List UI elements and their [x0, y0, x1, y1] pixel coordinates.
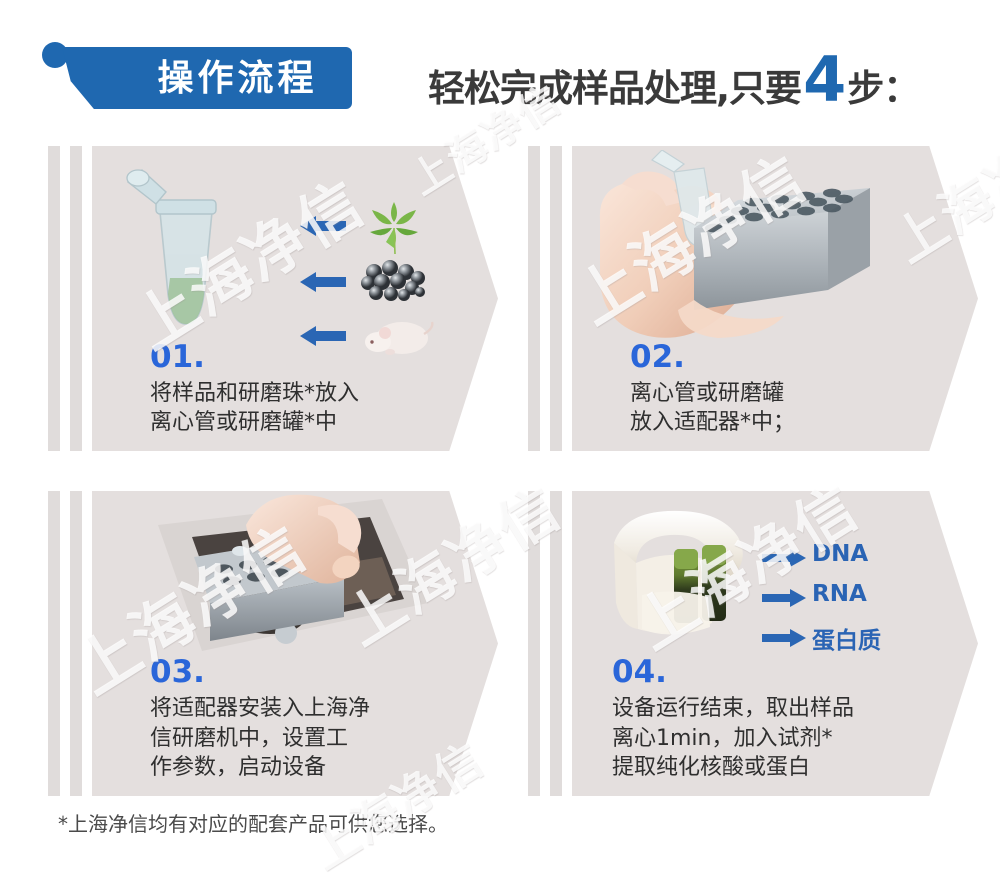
- step-caption-02: 02. 离心管或研磨罐 放入适配器*中；: [630, 342, 960, 438]
- headline-text-before: 轻松完成样品处理,只要: [428, 58, 801, 112]
- step-number-02: 02.: [630, 342, 960, 373]
- step-accent-bar-inner: [550, 491, 562, 796]
- headline-text-after: 步：: [847, 58, 919, 112]
- step-card-04: DNA RNA 蛋白质 04. 设备运行结束，取出样品 离心1min，加入试剂*…: [528, 491, 978, 796]
- step-accent-bar-outer: [48, 146, 60, 451]
- arrow-right-icon: [762, 549, 806, 567]
- steps-grid: 01. 将样品和研磨珠*放入 离心管或研磨罐*中: [0, 146, 1000, 796]
- step-accent-bar-inner: [550, 146, 562, 451]
- footnote-text: *上海净信均有对应的配套产品可供您选择。: [58, 808, 448, 837]
- centrifuge-tube-icon: [92, 156, 498, 356]
- step-card-body-02: 02. 离心管或研磨罐 放入适配器*中；: [572, 146, 978, 451]
- leaf-icon: [364, 198, 424, 256]
- step-accent-bar-outer: [528, 491, 540, 796]
- page-headline: 轻松完成样品处理,只要 4 步：: [428, 52, 919, 114]
- step-text-line: 提取纯化核酸或蛋白: [612, 753, 962, 782]
- step-accent-bar-inner: [70, 491, 82, 796]
- step-card-body-03: 03. 将适配器安装入上海净 信研磨机中，设置工 作参数，启动设备: [92, 491, 498, 796]
- step-number-04: 04.: [612, 657, 962, 688]
- step-card-02: 02. 离心管或研磨罐 放入适配器*中；: [528, 146, 978, 451]
- step-text-line: 作参数，启动设备: [150, 753, 480, 782]
- step-card-body-04: DNA RNA 蛋白质 04. 设备运行结束，取出样品 离心1min，加入试剂*…: [572, 491, 978, 796]
- hand-holding-adapter-photo: [578, 150, 908, 350]
- step-card-body-01: 01. 将样品和研磨珠*放入 离心管或研磨罐*中: [92, 146, 498, 451]
- step-accent-bar-outer: [528, 146, 540, 451]
- step-text-line: 离心1min，加入试剂*: [612, 724, 962, 753]
- page-header: 操作流程 轻松完成样品处理,只要 4 步：: [0, 0, 1000, 140]
- step-text-line: 设备运行结束，取出样品: [612, 694, 962, 723]
- output-label-protein: 蛋白质: [812, 621, 881, 655]
- arrow-right-icon: [762, 629, 806, 647]
- step-accent-bar-inner: [70, 146, 82, 451]
- arrow-left-icon: [300, 216, 346, 236]
- step-accent-bar-outer: [48, 491, 60, 796]
- grinding-beads-icon: [360, 258, 430, 304]
- output-label-dna: DNA: [812, 541, 868, 567]
- step-text-line: 将适配器安装入上海净: [150, 694, 480, 723]
- step-card-01: 01. 将样品和研磨珠*放入 离心管或研磨罐*中: [48, 146, 498, 451]
- step-caption-04: 04. 设备运行结束，取出样品 离心1min，加入试剂* 提取纯化核酸或蛋白: [612, 657, 962, 782]
- step-text-line: 信研磨机中，设置工: [150, 724, 480, 753]
- arrow-left-icon: [300, 272, 346, 292]
- headline-step-count: 4: [803, 52, 846, 108]
- step-number-03: 03.: [150, 657, 480, 688]
- step-card-03: 03. 将适配器安装入上海净 信研磨机中，设置工 作参数，启动设备: [48, 491, 498, 796]
- step-text-line: 离心管或研磨罐: [630, 379, 960, 408]
- step-caption-03: 03. 将适配器安装入上海净 信研磨机中，设置工 作参数，启动设备: [150, 657, 480, 782]
- step-number-01: 01.: [150, 342, 480, 373]
- step-text-line: 离心管或研磨罐*中: [150, 408, 480, 437]
- hand-installing-adapter-photo: [132, 491, 462, 671]
- output-label-rna: RNA: [812, 581, 867, 607]
- arrow-right-icon: [762, 589, 806, 607]
- step-text-line: 放入适配器*中；: [630, 408, 960, 437]
- section-badge-label: 操作流程: [125, 52, 350, 106]
- step-text-line: 将样品和研磨珠*放入: [150, 379, 480, 408]
- step-caption-01: 01. 将样品和研磨珠*放入 离心管或研磨罐*中: [150, 342, 480, 438]
